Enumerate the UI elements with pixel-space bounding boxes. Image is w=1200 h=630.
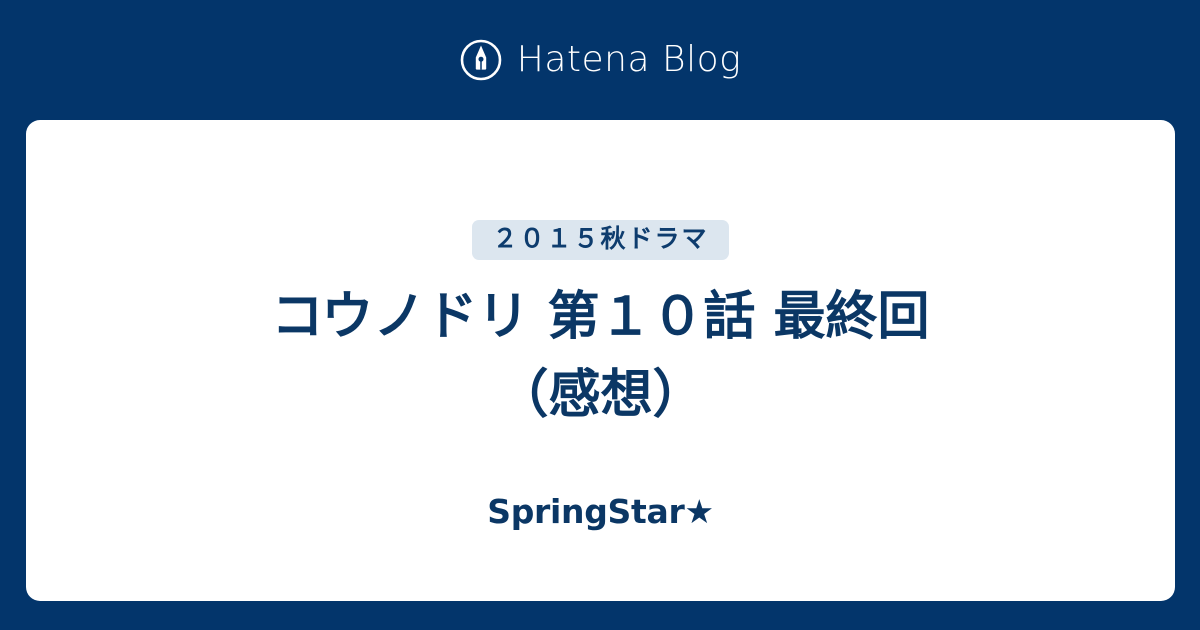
entry-title-line-1: コウノドリ 第１０話 最終回 <box>271 278 929 356</box>
brand-label: Hatena Blog <box>517 42 741 78</box>
tag-row: ２０１５秋ドラマ <box>472 220 728 260</box>
entry-card-content: ２０１５秋ドラマ コウノドリ 第１０話 最終回 （感想） SpringStar★ <box>26 120 1175 531</box>
blog-name: SpringStar★ <box>487 492 713 532</box>
entry-title-line-2: （感想） <box>271 356 929 434</box>
site-header: Hatena Blog <box>0 0 1200 120</box>
entry-title: コウノドリ 第１０話 最終回 （感想） <box>271 278 929 434</box>
category-tag-badge[interactable]: ２０１５秋ドラマ <box>472 220 728 260</box>
entry-card: ２０１５秋ドラマ コウノドリ 第１０話 最終回 （感想） SpringStar★ <box>26 120 1175 601</box>
pen-nib-icon <box>459 38 503 82</box>
